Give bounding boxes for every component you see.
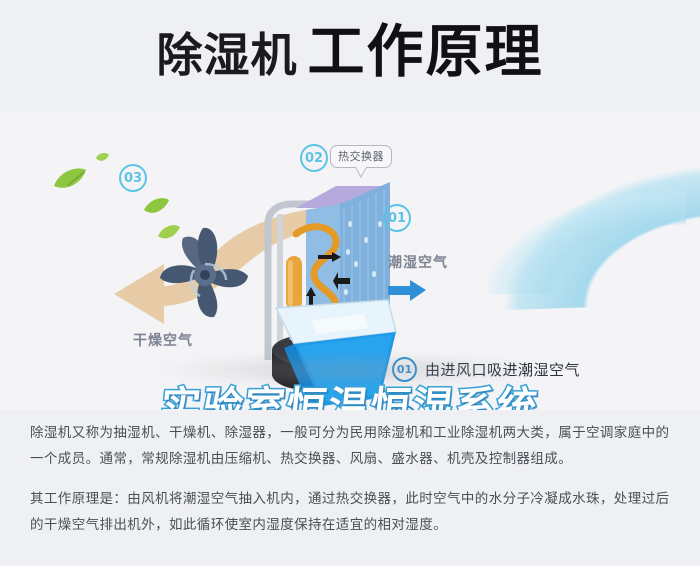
humid-air-swoosh-inner xyxy=(446,174,686,294)
leaf-icon-group xyxy=(44,152,124,202)
label-dry-air: 干燥空气 xyxy=(133,330,193,350)
diagram-badge-02: 02 xyxy=(300,144,328,172)
page-title-part2: 工作原理 xyxy=(308,24,544,81)
paragraph-1: 除湿机又称为抽湿机、干燥机、除湿器，一般可分为民用除湿机和工业除湿机两大类，属于… xyxy=(30,420,676,472)
paragraph-2: 其工作原理是：由风机将潮湿空气抽入机内，通过热交换器，此时空气中的水分子冷凝成水… xyxy=(30,486,676,538)
page-title-part1: 除湿机 xyxy=(157,32,298,78)
infographic-page: 除湿机 工作原理 xyxy=(0,0,700,566)
page-title: 除湿机 工作原理 xyxy=(0,24,700,96)
body-copy: 除湿机又称为抽湿机、干燥机、除湿器，一般可分为民用除湿机和工业除湿机两大类，属于… xyxy=(30,420,676,552)
label-heat-exchanger: 热交换器 xyxy=(330,145,392,168)
diagram-shadow xyxy=(150,352,550,388)
diagram-badge-01: 01 xyxy=(383,204,411,232)
label-humid-air: 潮湿空气 xyxy=(388,252,448,272)
diagram-badge-03: 03 xyxy=(119,164,147,192)
